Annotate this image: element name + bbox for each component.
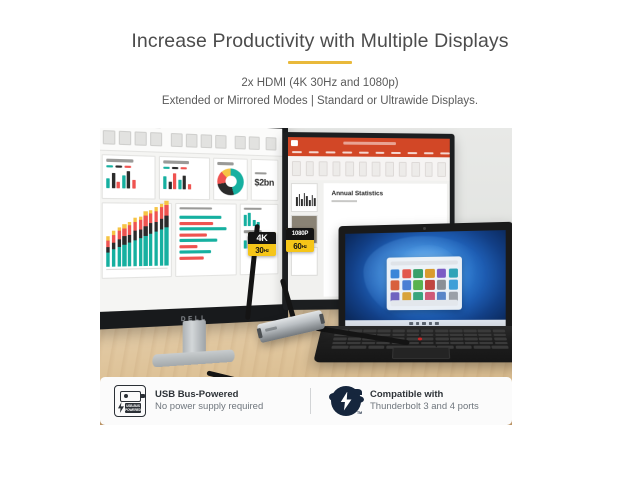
usb-plug-glyph xyxy=(120,391,141,402)
start-menu-user-row[interactable] xyxy=(391,300,458,307)
bi-donut-chart xyxy=(218,168,244,195)
badge-1080p-unit: Hz xyxy=(302,244,307,249)
feature-thunderbolt-title: Compatible with xyxy=(370,389,479,401)
taskbar-icon[interactable] xyxy=(416,322,419,326)
left-monitor-screen: $2bn xyxy=(100,128,282,312)
badge-1080p-value: 60 xyxy=(293,242,302,251)
bi-kpi-value: $2bn xyxy=(255,177,275,188)
powerpoint-title-bar xyxy=(288,137,450,149)
taskbar-icon[interactable] xyxy=(429,322,432,326)
bi-horizontal-bars xyxy=(180,213,232,260)
feature-thunderbolt-text: Compatible with Thunderbolt 3 and 4 port… xyxy=(370,389,479,414)
bi-card xyxy=(159,156,210,200)
feature-usb-title: USB Bus-Powered xyxy=(155,389,263,401)
badge-4k-value: 30 xyxy=(255,246,264,255)
start-menu-search[interactable] xyxy=(391,260,458,265)
webcam-icon xyxy=(423,227,426,230)
start-button-icon[interactable] xyxy=(409,322,412,325)
taskbar-icon[interactable] xyxy=(435,322,438,326)
usb-bus-powered-icon: USB-BUS POWERED xyxy=(114,385,146,417)
thunderbolt-trademark: TM xyxy=(357,411,362,415)
page-title: Increase Productivity with Multiple Disp… xyxy=(0,28,640,54)
bi-bar-chart-card xyxy=(176,202,237,276)
slide-title: Annual Statistics xyxy=(332,190,447,197)
feature-usb-bus-powered: USB-BUS POWERED USB Bus-Powered No power… xyxy=(114,385,310,417)
powerpoint-ribbon xyxy=(288,156,450,182)
subtitle-block: 2x HDMI (4K 30Hz and 1080p) Extended or … xyxy=(0,75,640,109)
laptop-screen xyxy=(345,230,505,327)
feature-usb-text: USB Bus-Powered No power supply required xyxy=(155,389,263,414)
feature-thunderbolt-subtitle: Thunderbolt 3 and 4 ports xyxy=(370,401,479,413)
bi-card xyxy=(102,154,156,199)
feature-thunderbolt: TM Compatible with Thunderbolt 3 and 4 p… xyxy=(311,386,498,416)
badge-1080p-label: 1080P xyxy=(286,228,314,240)
laptop xyxy=(322,224,512,374)
bi-donut-card xyxy=(214,158,248,200)
badge-4k-unit: Hz xyxy=(264,248,269,253)
bi-stacked-column-card xyxy=(102,202,173,279)
slide-thumbnail xyxy=(291,183,318,212)
laptop-lid xyxy=(339,222,512,336)
taskbar-icon[interactable] xyxy=(422,322,425,326)
bi-stacked-columns xyxy=(106,206,168,266)
bi-card-row-top: $2bn xyxy=(102,154,279,200)
title-accent-rule xyxy=(288,61,352,64)
trackpoint-icon xyxy=(418,337,422,340)
feature-bar: USB-BUS POWERED USB Bus-Powered No power… xyxy=(100,377,512,425)
lightning-bolt-icon xyxy=(118,402,124,413)
powerpoint-logo-icon xyxy=(291,140,298,146)
bi-kpi-card: $2bn xyxy=(251,159,279,201)
usb-bus-powered-tag: USB-BUS POWERED xyxy=(125,403,141,413)
thunderbolt-icon: TM xyxy=(331,386,361,416)
left-monitor: $2bn xyxy=(100,128,288,330)
badge-4k-30hz: 4K 30Hz xyxy=(248,232,276,256)
header: Increase Productivity with Multiple Disp… xyxy=(0,28,640,109)
start-menu xyxy=(387,256,462,310)
usb-tag-line-2: POWERED xyxy=(125,408,141,412)
start-menu-app-grid[interactable] xyxy=(391,268,458,302)
touchpad xyxy=(392,347,450,359)
slide-title-underline xyxy=(332,200,358,202)
subtitle-line-2: Extended or Mirrored Modes | Standard or… xyxy=(0,93,640,109)
badge-4k-label: 4K xyxy=(248,232,276,244)
product-marketing-image: Increase Productivity with Multiple Disp… xyxy=(0,0,640,480)
power-bi-dashboard: $2bn xyxy=(100,128,282,312)
badge-1080p-60hz: 1080P 60Hz xyxy=(286,228,314,252)
subtitle-line-1: 2x HDMI (4K 30Hz and 1080p) xyxy=(0,75,640,91)
feature-usb-subtitle: No power supply required xyxy=(155,401,263,413)
